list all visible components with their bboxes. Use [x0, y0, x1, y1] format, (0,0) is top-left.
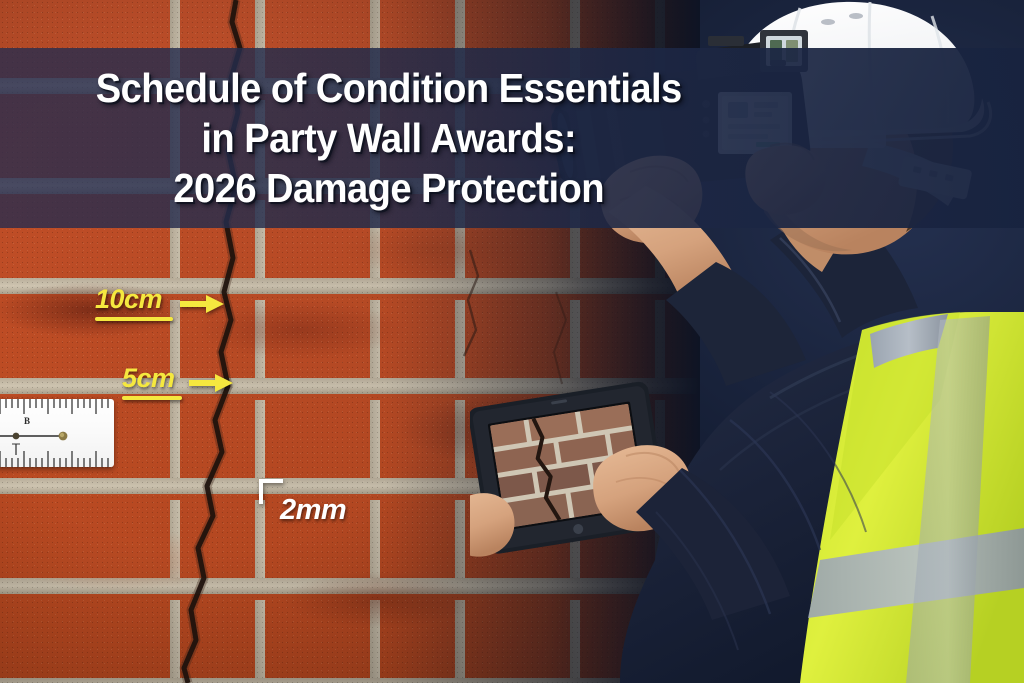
annotation-2mm-label: 2mm — [280, 496, 346, 525]
annotation-10cm-label: 10cm — [95, 286, 173, 313]
ruler-mark-label: B — [24, 416, 30, 426]
annotation-10cm-underline — [95, 317, 173, 321]
annotation-5cm-underline — [122, 396, 182, 400]
title-banner: Schedule of Condition Essentials in Part… — [0, 48, 1024, 228]
arrow-right-icon — [180, 293, 224, 315]
title-line-1: Schedule of Condition Essentials — [34, 63, 743, 113]
annotation-10cm: 10cm — [95, 286, 224, 321]
title-line-3: 2026 Damage Protection — [34, 163, 743, 213]
annotation-2mm: 2mm — [258, 478, 346, 525]
hero-graphic: B Schedule of Condition Essentials in Pa… — [0, 0, 1024, 683]
annotation-5cm-label: 5cm — [122, 365, 182, 392]
title-line-2: in Party Wall Awards: — [34, 113, 743, 163]
page-title: Schedule of Condition Essentials in Part… — [27, 63, 743, 213]
annotation-5cm: 5cm — [122, 365, 233, 400]
arrow-right-icon — [189, 372, 233, 394]
measuring-ruler: B — [0, 399, 114, 467]
corner-bracket-icon — [258, 478, 284, 504]
